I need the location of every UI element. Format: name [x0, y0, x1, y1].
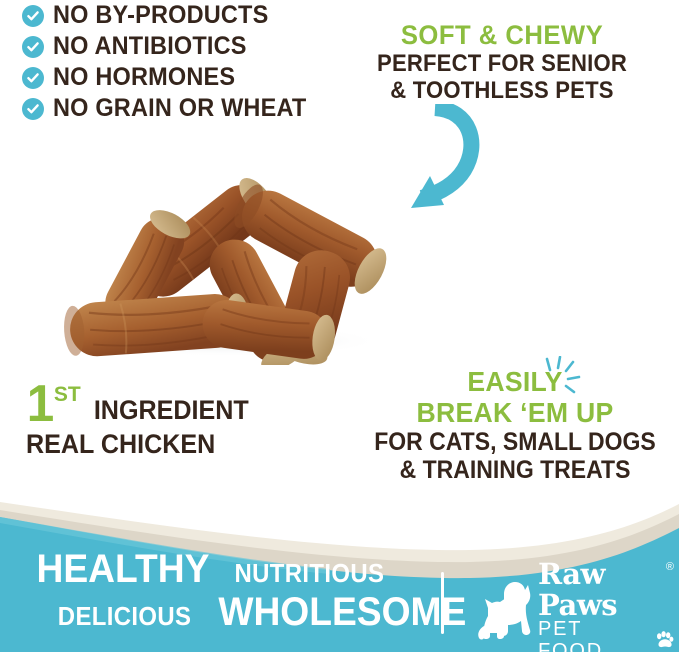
soft-chewy-subline-2: & TOOTHLESS PETS — [364, 77, 640, 104]
ingredient-ordinal: ST — [54, 380, 81, 410]
check-circle-icon — [22, 36, 44, 58]
list-item: NO HORMONES — [22, 62, 362, 93]
first-ingredient-callout: 1 ST INGREDIENT REAL CHICKEN — [26, 382, 286, 460]
registered-trademark-icon: ® — [666, 561, 674, 573]
product-photo — [52, 145, 422, 365]
check-circle-icon — [22, 5, 44, 27]
check-circle-icon — [22, 67, 44, 89]
ingredient-number: 1 — [27, 382, 54, 426]
brand-logo[interactable]: Raw Paws ® PET FOOD — [474, 575, 674, 645]
banner-word-nutritious: NUTRITIOUS — [234, 558, 384, 588]
logo-tagline: PET FOOD — [538, 618, 650, 652]
banner-word-healthy: HEALTHY — [37, 548, 210, 590]
ingredient-line-2: REAL CHICKEN — [26, 428, 268, 460]
ingredient-line-1: 1 ST INGREDIENT — [26, 382, 286, 426]
feature-label: NO GRAIN OR WHEAT — [53, 96, 306, 121]
logo-tagline-row: PET FOOD — [538, 618, 674, 652]
list-item: NO GRAIN OR WHEAT — [22, 93, 362, 124]
banner-slogan-row-2: DELICIOUS WHOLESOME — [30, 591, 430, 633]
banner-slogan: HEALTHY NUTRITIOUS DELICIOUS WHOLESOME — [30, 548, 430, 633]
logo-name: Raw Paws — [538, 559, 666, 621]
banner-word-delicious: DELICIOUS — [58, 601, 192, 631]
soft-chewy-callout: SOFT & CHEWY PERFECT FOR SENIOR & TOOTHL… — [352, 20, 652, 104]
feature-list: NO BY-PRODUCTS NO ANTIBIOTICS NO HORMONE… — [22, 0, 362, 124]
soft-chewy-subline-1: PERFECT FOR SENIOR — [364, 50, 640, 77]
check-circle-icon — [22, 98, 44, 120]
soft-chewy-headline: SOFT & CHEWY — [360, 20, 645, 50]
feature-label: NO HORMONES — [53, 65, 235, 90]
paw-print-icon — [655, 630, 674, 649]
vertical-divider — [441, 572, 444, 634]
logo-wordmark: Raw Paws ® PET FOOD — [538, 559, 674, 652]
ingredient-word: INGREDIENT — [94, 395, 249, 425]
banner-word-wholesome: WHOLESOME — [219, 591, 467, 633]
list-item: NO BY-PRODUCTS — [22, 0, 362, 31]
break-up-subline-1: FOR CATS, SMALL DOGS — [371, 428, 660, 456]
dog-and-cat-silhouette-icon — [474, 578, 536, 642]
break-up-headline-1: EASILY — [366, 366, 664, 397]
feature-label: NO ANTIBIOTICS — [53, 34, 247, 59]
banner-slogan-row-1: HEALTHY NUTRITIOUS — [30, 548, 430, 590]
logo-name-row: Raw Paws ® — [538, 559, 674, 621]
list-item: NO ANTIBIOTICS — [22, 31, 362, 62]
break-up-subline-2: & TRAINING TREATS — [371, 456, 660, 484]
break-up-headline-2: BREAK ‘EM UP — [366, 397, 664, 428]
break-up-callout: EASILY BREAK ‘EM UP FOR CATS, SMALL DOGS… — [358, 366, 672, 484]
feature-label: NO BY-PRODUCTS — [53, 3, 268, 28]
promo-infographic: NO BY-PRODUCTS NO ANTIBIOTICS NO HORMONE… — [0, 0, 679, 652]
